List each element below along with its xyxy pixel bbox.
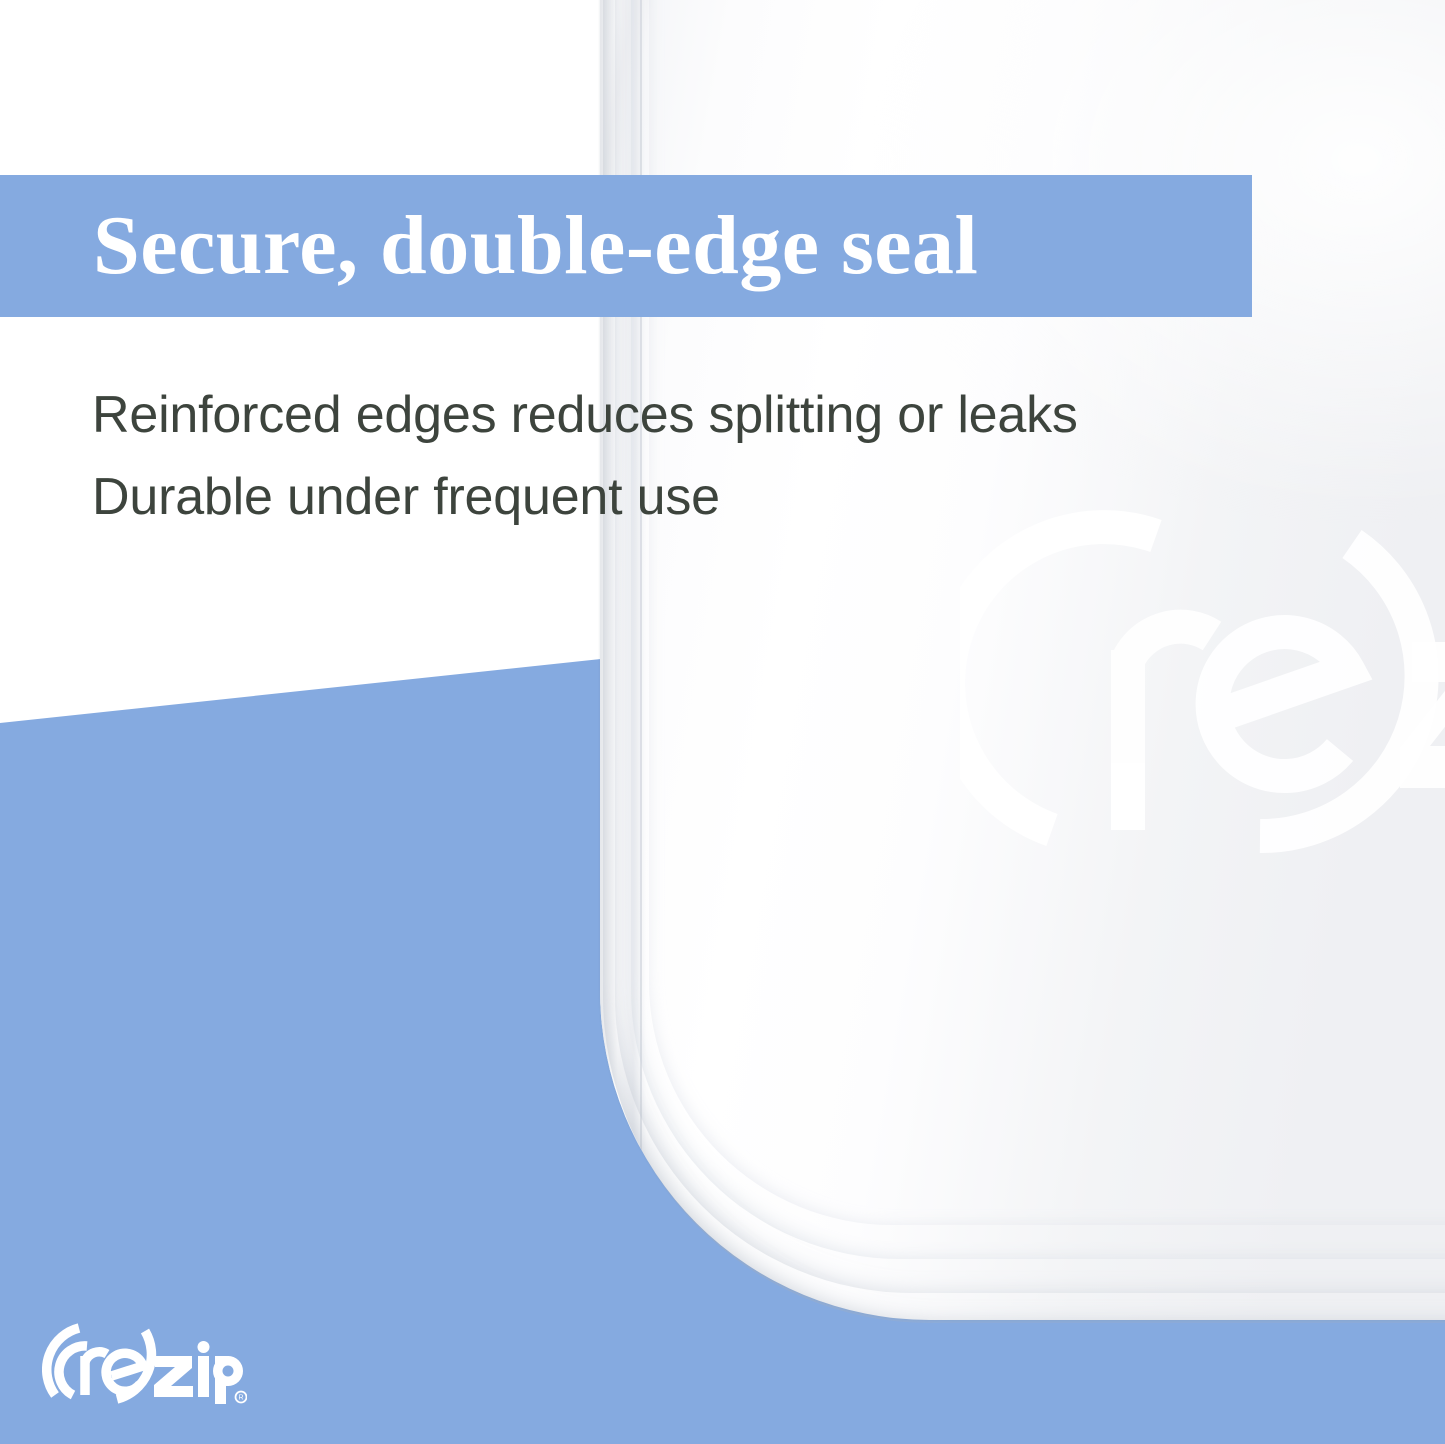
feature-bullet-2: Durable under frequent use xyxy=(92,456,1192,538)
feature-bullet-1: Reinforced edges reduces splitting or le… xyxy=(92,374,1192,456)
rezip-brand-logo: R xyxy=(42,1322,247,1404)
product-feature-callout-image: Secure, double-edge seal Reinforced edge… xyxy=(0,0,1445,1444)
page-title: Secure, double-edge seal xyxy=(93,192,1253,300)
svg-text:R: R xyxy=(238,1395,243,1402)
feature-bullet-list: Reinforced edges reduces splitting or le… xyxy=(92,374,1192,538)
